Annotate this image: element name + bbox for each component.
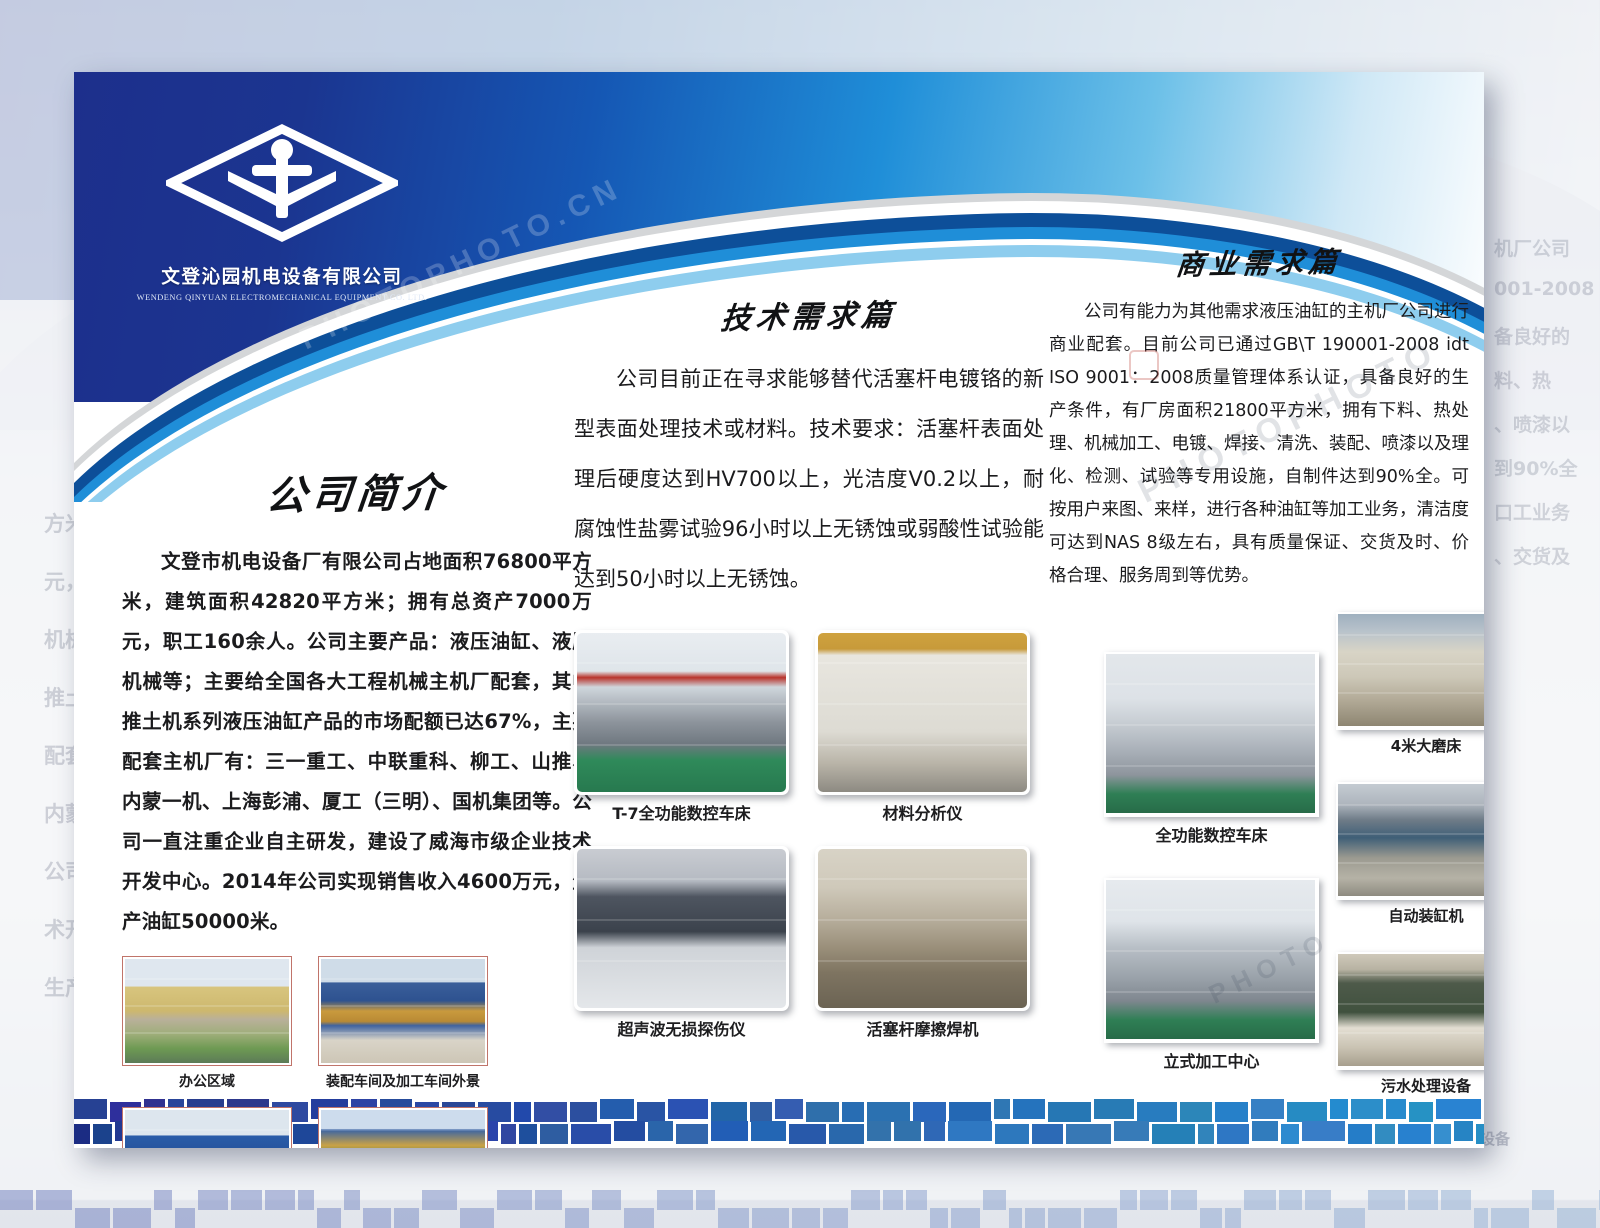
backdrop-mosaic-tile — [198, 1190, 228, 1210]
backdrop-mosaic-tile — [906, 1190, 927, 1210]
mosaic-tile — [1434, 1124, 1451, 1144]
backdrop-mosaic-tile — [317, 1208, 341, 1228]
backdrop-mosaic-tile — [175, 1208, 195, 1228]
mosaic-tile — [994, 1099, 1010, 1119]
backdrop-mosaic-tile — [1557, 1208, 1596, 1228]
mosaic-tile — [1066, 1124, 1111, 1144]
photo-caption: 立式加工中心 — [1104, 1048, 1319, 1072]
photo-material-analyzer — [818, 633, 1027, 792]
photo-card: 全功能数控车床 — [1104, 652, 1319, 846]
photo-frame — [318, 956, 488, 1066]
poster-canvas: 文登沁园机电设备有限公司 WENDENG QINYUAN ELECTROMECH… — [74, 72, 1484, 1148]
photo-card: 立式加工中心 — [1104, 878, 1319, 1072]
backdrop-mosaic-tile — [657, 1190, 693, 1210]
photo-card: 污水处理设备 — [1336, 952, 1484, 1096]
backdrop-mosaic-tile — [1225, 1208, 1241, 1228]
backdrop-mosaic-tile — [363, 1208, 391, 1228]
logo-company-name-cn: 文登沁园机电设备有限公司 — [132, 263, 432, 289]
backdrop-mosaic-tile — [1025, 1208, 1045, 1228]
mosaic-tile — [1476, 1124, 1484, 1144]
mosaic-tile — [1281, 1124, 1299, 1144]
photo-card: 厂内 — [318, 1107, 488, 1148]
photo-caption: 全功能数控车床 — [1104, 822, 1319, 846]
mosaic-tile — [1013, 1099, 1045, 1119]
backdrop-ghost-line: 机厂公司 — [1494, 234, 1570, 261]
photo-card: 办公区域 — [122, 956, 292, 1091]
backdrop-ghost-line: 料、热 — [1494, 366, 1551, 393]
backdrop-mosaic-tile — [298, 1190, 314, 1210]
mosaic-tile — [842, 1102, 864, 1122]
mosaic-tile — [1114, 1121, 1149, 1141]
backdrop-mosaic-tile — [883, 1190, 903, 1210]
photo-full-function-cnc-lathe — [1106, 654, 1315, 813]
photo-frame — [122, 1107, 292, 1148]
backdrop-mosaic-tile — [1305, 1190, 1331, 1210]
mosaic-tile — [894, 1121, 921, 1141]
photo-frame — [574, 630, 789, 795]
backdrop-mosaic-tile — [792, 1208, 820, 1228]
photo-caption: 自动装缸机 — [1336, 905, 1484, 926]
mosaic-tile — [1348, 1124, 1372, 1144]
mosaic-tile — [948, 1121, 992, 1141]
section-text-technical: 公司目前正在寻求能够替代活塞杆电镀铬的新型表面处理技术或材料。技术要求：活塞杆表… — [574, 354, 1044, 604]
mosaic-tile — [924, 1121, 945, 1141]
photo-card: T-7全功能数控车床 — [574, 630, 789, 824]
photo-frame — [1336, 952, 1484, 1070]
mosaic-tile — [751, 1121, 786, 1141]
photo-wastewater-treatment — [1338, 954, 1484, 1066]
photo-frame — [1104, 878, 1319, 1043]
backdrop-ghost-line: 到90%全 — [1494, 454, 1577, 481]
mosaic-tile — [867, 1102, 910, 1122]
backdrop-ghost-line: 口工业务 — [1494, 498, 1570, 525]
backdrop-mosaic-tile — [1408, 1190, 1438, 1210]
backdrop-mosaic-band — [0, 1154, 1600, 1228]
mosaic-tile — [600, 1099, 634, 1119]
mosaic-tile — [676, 1124, 708, 1144]
backdrop-mosaic-tile — [75, 1208, 110, 1228]
photo-workshop-exterior — [321, 959, 485, 1063]
mosaic-tile — [1375, 1124, 1395, 1144]
mosaic-tile — [1287, 1102, 1327, 1122]
backdrop-mosaic-tile — [422, 1190, 457, 1210]
mosaic-tile — [711, 1121, 748, 1141]
photo-card: 装配车间及加工车间外景 — [318, 956, 488, 1091]
mosaic-tile — [1302, 1121, 1345, 1141]
business-large-photos: 全功能数控车床立式加工中心 — [1104, 652, 1319, 1072]
mosaic-tile — [74, 1124, 90, 1144]
mosaic-tile — [1137, 1102, 1177, 1122]
backdrop-mosaic-tile — [696, 1190, 715, 1210]
photo-grid-company: 办公区域装配车间及加工车间外景新车间厂内 — [122, 956, 592, 1148]
photo-four-meter-grinder — [1338, 614, 1484, 726]
business-small-photos: 4米大磨床自动装缸机污水处理设备 — [1336, 612, 1484, 1122]
photo-frame — [1336, 612, 1484, 730]
backdrop-mosaic-tile — [1200, 1208, 1222, 1228]
backdrop-mosaic-tile — [1009, 1208, 1022, 1228]
backdrop-mosaic-tile — [1441, 1190, 1471, 1210]
backdrop-ghost-line: 、喷漆以 — [1494, 410, 1570, 437]
photo-caption: 装配车间及加工车间外景 — [318, 1071, 488, 1091]
backdrop-mosaic-tile — [460, 1208, 494, 1228]
photo-caption: 4米大磨床 — [1336, 735, 1484, 756]
photo-caption: 污水处理设备 — [1336, 1075, 1484, 1096]
backdrop-mosaic-tile — [624, 1208, 654, 1228]
mosaic-tile — [1251, 1099, 1284, 1119]
backdrop-mosaic-tile — [1244, 1190, 1276, 1210]
photo-frame — [1104, 652, 1319, 817]
mosaic-tile — [775, 1099, 803, 1119]
watermark-stamp-icon — [1129, 350, 1159, 380]
photo-cnc-lathe-worker — [577, 633, 786, 792]
mosaic-tile — [93, 1124, 112, 1144]
backdrop-mosaic-tile — [930, 1208, 948, 1228]
column-technical: 技术需求篇 公司目前正在寻求能够替代活塞杆电镀铬的新型表面处理技术或材料。技术要… — [574, 292, 1044, 1040]
photo-frame — [815, 630, 1030, 795]
backdrop-ghost-line: 、交货及 — [1494, 542, 1570, 569]
backdrop-mosaic-tile — [535, 1190, 562, 1210]
section-title-business: 商业需求篇 — [1046, 238, 1471, 287]
photo-frame — [1336, 782, 1484, 900]
photo-auto-cylinder-assembler — [1338, 784, 1484, 896]
photo-caption: 活塞杆摩擦焊机 — [815, 1016, 1030, 1040]
mosaic-tile — [1048, 1102, 1091, 1122]
photo-frame — [815, 846, 1030, 1011]
backdrop-mosaic-tile — [1368, 1190, 1405, 1210]
backdrop-mosaic-tile — [265, 1190, 295, 1210]
mosaic-tile — [648, 1121, 673, 1141]
backdrop-mosaic-tile — [718, 1208, 749, 1228]
photo-caption: 材料分析仪 — [815, 800, 1030, 824]
mosaic-tile — [74, 1099, 107, 1119]
backdrop-mosaic-tile — [592, 1190, 621, 1210]
mosaic-tile — [1180, 1102, 1212, 1122]
photo-card: 4米大磨床 — [1336, 612, 1484, 756]
backdrop-ghost-line: 备良好的 — [1494, 322, 1570, 349]
backdrop-mosaic-tile — [1474, 1208, 1488, 1228]
company-logo-block: 文登沁园机电设备有限公司 WENDENG QINYUAN ELECTROMECH… — [132, 124, 432, 302]
backdrop-mosaic-tile — [1048, 1208, 1081, 1228]
backdrop-mosaic-tile — [1491, 1208, 1529, 1228]
backdrop-mosaic-tile — [1334, 1208, 1365, 1228]
mosaic-tile — [949, 1102, 991, 1122]
logo-company-name-en: WENDENG QINYUAN ELECTROMECHANICAL EQUIPM… — [132, 293, 432, 302]
photo-caption: 超声波无损探伤仪 — [574, 1016, 789, 1040]
mosaic-tile — [637, 1102, 665, 1122]
diamond-anchor-emblem-icon — [166, 124, 398, 242]
backdrop-mosaic-tile — [1532, 1190, 1554, 1210]
backdrop-mosaic-tile — [344, 1190, 360, 1210]
backdrop-mosaic-tile — [951, 1208, 980, 1228]
backdrop-mosaic-tile — [1140, 1190, 1168, 1210]
backdrop-mosaic-tile — [36, 1190, 72, 1210]
column-business: 商业需求篇 公司有能力为其他需求液压油缸的主机厂公司进行商业配套。目前公司已通过… — [1049, 242, 1469, 593]
mosaic-tile — [995, 1124, 1029, 1144]
backdrop-mosaic-tile — [0, 1190, 33, 1210]
mosaic-tile — [1398, 1124, 1431, 1144]
mosaic-tile — [1152, 1124, 1195, 1144]
mosaic-tile — [1217, 1124, 1249, 1144]
backdrop-mosaic-tile — [1084, 1208, 1117, 1228]
photo-grid-technical: T-7全功能数控车床材料分析仪超声波无损探伤仪活塞杆摩擦焊机 — [574, 630, 1044, 1040]
backdrop-mosaic-tile — [565, 1208, 589, 1228]
column-company-intro: 公司简介 文登市机电设备厂有限公司占地面积76800平方米，建筑面积42820平… — [122, 462, 592, 1148]
photo-ultrasonic-flaw-detector — [577, 849, 786, 1008]
backdrop-mosaic-tile — [1171, 1190, 1197, 1210]
mosaic-tile — [1215, 1102, 1248, 1122]
photo-card: 自动装缸机 — [1336, 782, 1484, 926]
mosaic-tile — [1252, 1121, 1278, 1141]
mosaic-tile — [806, 1102, 839, 1122]
photo-frame — [318, 1107, 488, 1148]
section-title-company: 公司简介 — [118, 457, 595, 525]
backdrop-mosaic-tile — [113, 1208, 151, 1228]
mosaic-tile — [668, 1099, 708, 1119]
backdrop-mosaic-tile — [823, 1208, 848, 1228]
mosaic-tile — [913, 1102, 946, 1122]
photo-caption: 办公区域 — [122, 1071, 292, 1091]
photo-frame — [574, 846, 789, 1011]
mosaic-tile — [750, 1102, 772, 1122]
mosaic-tile — [789, 1124, 826, 1144]
backdrop-mosaic-tile — [983, 1190, 1006, 1210]
mosaic-tile — [711, 1102, 747, 1122]
mosaic-tile — [1032, 1124, 1063, 1144]
backdrop-mosaic-tile — [231, 1190, 262, 1210]
mosaic-tile — [867, 1121, 891, 1141]
photo-office-building-pond — [125, 959, 289, 1063]
mosaic-tile — [1094, 1099, 1134, 1119]
photo-caption: T-7全功能数控车床 — [574, 800, 789, 824]
mosaic-tile — [829, 1124, 864, 1144]
backdrop-mosaic-tile — [1120, 1190, 1137, 1210]
photo-factory-grounds — [321, 1110, 485, 1148]
section-title-technical: 技术需求篇 — [571, 287, 1047, 341]
photo-card: 活塞杆摩擦焊机 — [815, 846, 1030, 1040]
photo-card: 超声波无损探伤仪 — [574, 846, 789, 1040]
photo-friction-welder — [818, 849, 1027, 1008]
backdrop-mosaic-tile — [394, 1208, 419, 1228]
backdrop-mosaic-tile — [1279, 1190, 1302, 1210]
mosaic-tile — [1198, 1124, 1214, 1144]
photo-card: 材料分析仪 — [815, 630, 1030, 824]
backdrop-mosaic-tile — [497, 1190, 532, 1210]
mosaic-tile — [1454, 1121, 1473, 1141]
section-text-business: 公司有能力为其他需求液压油缸的主机厂公司进行商业配套。目前公司已通过GB\T 1… — [1049, 296, 1469, 593]
backdrop-mosaic-tile — [851, 1190, 880, 1210]
backdrop-mosaic-tile — [752, 1208, 789, 1228]
mosaic-tile — [614, 1121, 645, 1141]
section-text-company: 文登市机电设备厂有限公司占地面积76800平方米，建筑面积42820平方米；拥有… — [122, 542, 592, 942]
photo-card: 新车间 — [122, 1107, 292, 1148]
photo-new-workshop-road — [125, 1110, 289, 1148]
photo-vertical-machining-center — [1106, 880, 1315, 1039]
photo-frame — [122, 956, 292, 1066]
backdrop-ghost-line: 001-2008 — [1494, 278, 1594, 300]
backdrop-mosaic-tile — [154, 1190, 172, 1210]
